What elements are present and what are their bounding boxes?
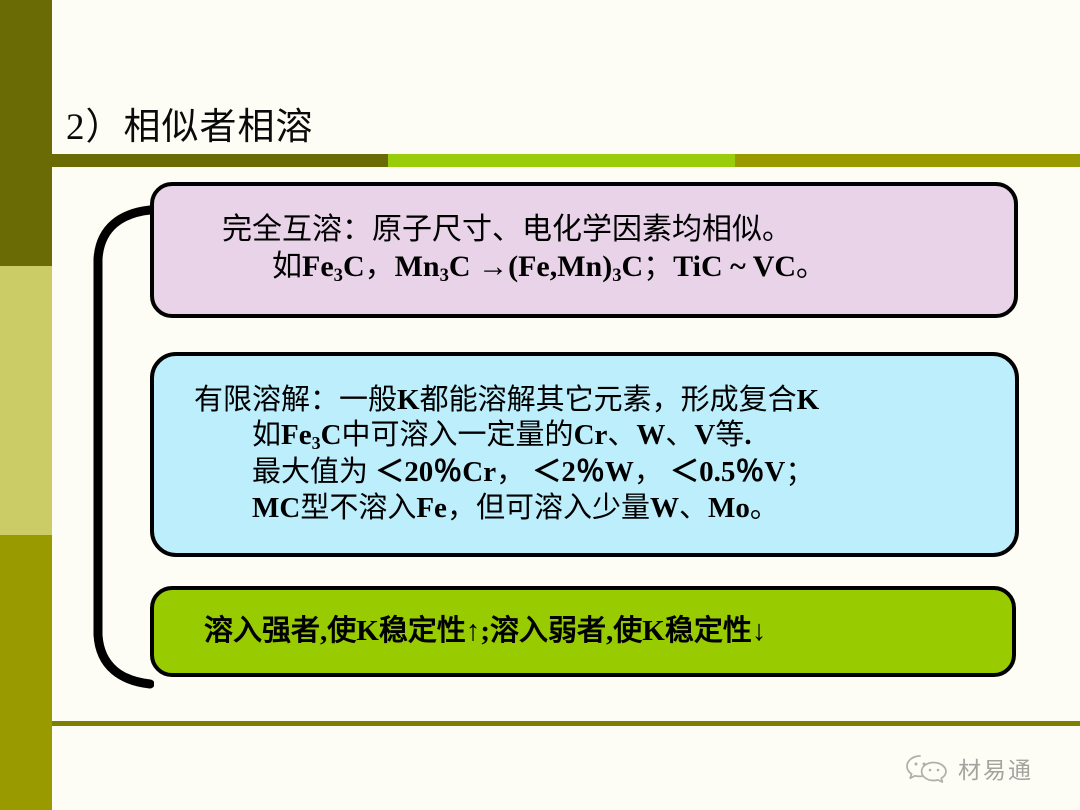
- header-rule-bright-segment: [388, 154, 735, 167]
- box-blue-line-3: 最大值为 ＜20％Cr， ＜2％W， ＜0.5％V；: [174, 455, 995, 490]
- content-box-limited-solubility: 有限溶解：一般K都能溶解其它元素，形成复合K 如Fe3C中可溶入一定量的Cr、W…: [150, 352, 1019, 557]
- box-blue-line-2: 如Fe3C中可溶入一定量的Cr、W、V等.: [174, 418, 995, 455]
- box-pink-line-2: 如Fe3C，Mn3C →(Fe,Mn)3C；TiC ~ VC。: [176, 249, 992, 288]
- box-pink-line-1: 完全互溶：原子尺寸、电化学因素均相似。: [176, 212, 992, 249]
- sidebar-band-bottom: [0, 535, 52, 810]
- content-box-complete-solubility: 完全互溶：原子尺寸、电化学因素均相似。 如Fe3C，Mn3C →(Fe,Mn)3…: [150, 182, 1018, 318]
- watermark: 材易通: [905, 751, 1033, 785]
- header-rule-dark-segment: [52, 154, 388, 167]
- slide-title: 2）相似者相溶: [66, 96, 314, 150]
- content-box-stability-rule: 溶入强者,使K稳定性↑;溶入弱者,使K稳定性↓: [150, 586, 1016, 677]
- header-rule-olive-segment: [735, 154, 1080, 167]
- watermark-text: 材易通: [958, 751, 1033, 785]
- slide-canvas: 2）相似者相溶 完全互溶：原子尺寸、电化学因素均相似。 如Fe3C，Mn3C →…: [0, 0, 1080, 810]
- box-blue-line-1: 有限溶解：一般K都能溶解其它元素，形成复合K: [174, 383, 995, 418]
- box-blue-line-4: MC型不溶入Fe，但可溶入少量W、Mo。: [174, 491, 995, 526]
- sidebar-band-top: [0, 0, 52, 266]
- box-green-line-1: 溶入强者,使K稳定性↑;溶入弱者,使K稳定性↓: [176, 614, 990, 649]
- wechat-icon: [905, 753, 949, 783]
- sidebar-band-middle: [0, 266, 52, 535]
- group-bracket-icon: [92, 203, 154, 691]
- footer-rule: [52, 721, 1080, 726]
